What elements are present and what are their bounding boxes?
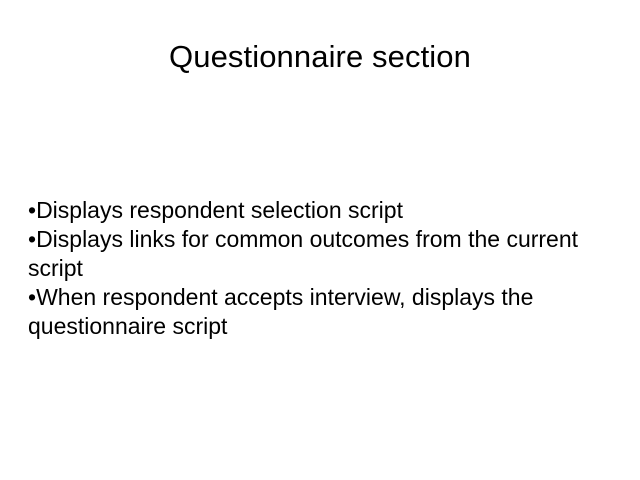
list-item: •When respondent accepts interview, disp… xyxy=(28,283,608,341)
slide: Questionnaire section •Displays responde… xyxy=(0,0,640,480)
bullet-point-icon: • xyxy=(28,226,36,252)
list-item-label: When respondent accepts interview, displ… xyxy=(28,284,533,339)
list-item: •Displays respondent selection script xyxy=(28,196,608,225)
bullet-point-icon: • xyxy=(28,284,36,310)
bullet-list: •Displays respondent selection script •D… xyxy=(28,196,608,341)
list-item-label: Displays links for common outcomes from … xyxy=(28,226,578,281)
bullet-point-icon: • xyxy=(28,197,36,223)
page-title: Questionnaire section xyxy=(0,38,640,76)
slide-body: •Displays respondent selection script •D… xyxy=(28,196,608,341)
list-item: •Displays links for common outcomes from… xyxy=(28,225,608,283)
list-item-label: Displays respondent selection script xyxy=(36,197,403,223)
